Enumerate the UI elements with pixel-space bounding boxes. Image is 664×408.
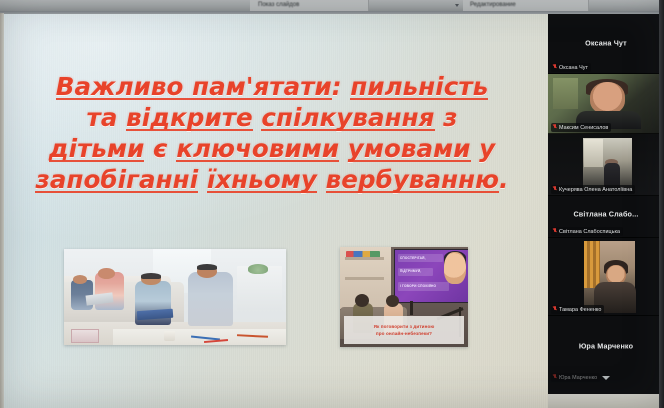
photo2-tv-stand	[410, 301, 413, 315]
toolbar-underline	[0, 11, 664, 14]
participant-tile-2[interactable]: Максим Сенисалов	[548, 74, 664, 134]
photo1-boy-hair	[141, 273, 161, 279]
photo1-father-body	[188, 272, 232, 326]
participant-4-label: Світлана Слабоспицька	[551, 227, 623, 236]
participant-1-label: Оксана Чут	[551, 63, 591, 72]
toolbar-tab-editing-label: Редактирование	[470, 0, 516, 11]
mic-muted-icon	[553, 306, 557, 313]
participant-2-label: Максим Сенисалов	[551, 123, 611, 132]
participant-6-label: Юра Марченко	[551, 373, 600, 382]
participant-tile-3[interactable]: Кучерява Олена Анатоліївна	[548, 134, 664, 196]
chevron-down-icon[interactable]	[602, 376, 610, 380]
participant-1-center-name: Оксана Чут	[548, 39, 664, 48]
mic-muted-icon	[553, 186, 557, 193]
participant-6-center-name: Юра Марченко	[548, 341, 664, 350]
participant-tile-5[interactable]: Тамара Фененко	[548, 238, 664, 316]
participant-3-name: Кучерява Олена Анатоліївна	[559, 187, 632, 193]
toolbar-tab-slideshow-label: Показ слайдов	[258, 0, 299, 11]
zoom-participant-sidebar[interactable]: Оксана Чут Оксана Чут Максим Сенисалов	[548, 0, 664, 408]
mic-muted-icon	[553, 64, 557, 71]
photo1-box	[71, 329, 100, 343]
participant-5-name: Тамара Фененко	[559, 307, 601, 313]
photo2-tv-line-2: ПІДТРИМУЙ,	[400, 269, 422, 273]
photo2-caption-line-1: Як поговорити з дитиною	[374, 324, 435, 330]
mic-muted-icon	[553, 374, 557, 381]
participant-1-name: Оксана Чут	[559, 65, 588, 71]
photo1-father-hair	[197, 264, 217, 270]
photo2-shelf-top	[345, 257, 383, 260]
photo2-person-b-head	[386, 295, 399, 307]
photo1-plant	[248, 264, 268, 274]
photo2-caption: Як поговорити з дитиною про онлайн-небез…	[344, 316, 464, 344]
photo2-tv-screen: СПОСТЕРІГАЙ, ПІДТРИМУЙ, І ГОВОРИ СПОКІЙН…	[394, 249, 468, 303]
slide-headline-line-4: запобіганні їхньому вербуванню.	[8, 164, 536, 195]
app-toolbar: Показ слайдов Редактирование	[0, 0, 664, 11]
participant-tile-4[interactable]: Світлана Слабо... Світлана Слабоспицька	[548, 196, 664, 238]
online-safety-video-screenshot: СПОСТЕРІГАЙ, ПІДТРИМУЙ, І ГОВОРИ СПОКІЙН…	[340, 247, 468, 347]
participant-2-name: Максим Сенисалов	[559, 125, 608, 131]
photographed-screen: Показ слайдов Редактирование Важливо пам…	[0, 0, 664, 408]
photo2-caption-line-2: про онлайн-небезпеки?	[376, 331, 432, 337]
photo2-shelf-bottom	[345, 277, 383, 280]
slide-headline-line-1: Важливо пам'ятати: пильність	[8, 71, 536, 102]
photo2-tv-line-1: СПОСТЕРІГАЙ,	[400, 256, 426, 260]
participant-tile-6[interactable]: Юра Марченко Юра Марченко	[548, 316, 664, 394]
participant-6-name: Юра Марченко	[559, 375, 597, 381]
mic-muted-icon	[553, 228, 557, 235]
participant-tile-1[interactable]: Оксана Чут Оксана Чут	[548, 12, 664, 74]
participant-4-center-name: Світлана Слабо...	[548, 210, 664, 219]
mic-muted-icon	[553, 124, 557, 131]
slide-headline-line-2: та відкрите спілкування з	[8, 102, 536, 133]
participant-5-label: Тамара Фененко	[551, 305, 604, 314]
screen-right-bezel	[659, 0, 664, 408]
photo1-mother-head	[98, 268, 115, 279]
family-living-room-photo	[64, 249, 286, 345]
presentation-slide: Важливо пам'ятати: пильністьта відкрите …	[0, 13, 548, 408]
participant-3-label: Кучерява Олена Анатоліївна	[551, 185, 635, 194]
participant-4-name: Світлана Слабоспицька	[559, 229, 620, 235]
screen-left-bezel	[0, 13, 4, 408]
photo2-cartoon-face	[444, 252, 466, 284]
sidebar-bottom-strip	[548, 394, 664, 408]
toolbar-caret-icon[interactable]	[455, 4, 459, 7]
slide-headline-line-3: дітьми є ключовими умовами у	[8, 133, 536, 164]
slide-headline: Важливо пам'ятати: пильністьта відкрите …	[8, 71, 536, 195]
photo2-tv-line-3: І ГОВОРИ СПОКІЙНО	[400, 284, 436, 288]
photo1-cup	[164, 331, 175, 342]
